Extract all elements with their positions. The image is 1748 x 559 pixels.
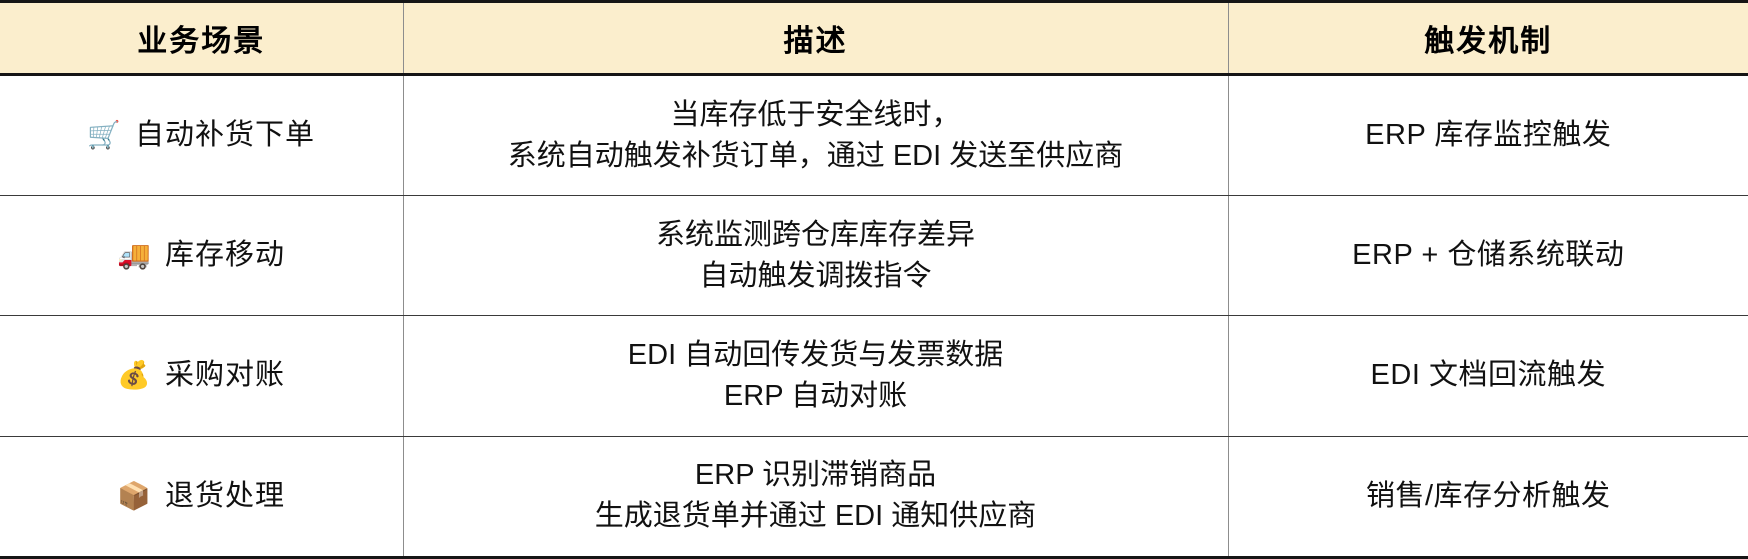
scenario-label: 退货处理	[165, 476, 285, 517]
description-cell: 当库存低于安全线时， 系统自动触发补货订单，通过 EDI 发送至供应商	[403, 75, 1228, 196]
shopping-cart-icon: 🛒	[87, 122, 121, 149]
trigger-text: EDI 文档回流触发	[1371, 359, 1606, 391]
trigger-text: ERP + 仓储系统联动	[1352, 239, 1624, 271]
scenario-label: 自动补货下单	[135, 115, 315, 156]
table-header: 业务场景 描述 触发机制	[0, 2, 1748, 75]
scenario-cell: 💰 采购对账	[0, 316, 403, 436]
trigger-text: ERP 库存监控触发	[1365, 119, 1611, 151]
header-row: 业务场景 描述 触发机制	[0, 2, 1748, 75]
delivery-truck-icon: 🚚	[117, 242, 151, 269]
business-scenario-table-container: 业务场景 描述 触发机制 🛒 自动补货下单 当库存低于安全线时， 系统自动触发补…	[0, 0, 1748, 559]
trigger-cell: 销售/库存分析触发	[1228, 436, 1748, 558]
scenario-cell: 📦 退货处理	[0, 436, 403, 558]
description-line: 系统自动触发补货订单，通过 EDI 发送至供应商	[418, 136, 1214, 177]
column-header-trigger: 触发机制	[1228, 2, 1748, 75]
table-body: 🛒 自动补货下单 当库存低于安全线时， 系统自动触发补货订单，通过 EDI 发送…	[0, 75, 1748, 558]
trigger-text: 销售/库存分析触发	[1366, 480, 1611, 512]
description-cell: ERP 识别滞销商品 生成退货单并通过 EDI 通知供应商	[403, 436, 1228, 558]
description-line: 系统监测跨仓库库存差异	[418, 215, 1214, 256]
package-box-icon: 📦	[117, 483, 151, 510]
scenario-label: 采购对账	[165, 355, 285, 396]
description-line: 当库存低于安全线时，	[418, 95, 1214, 136]
table-row: 💰 采购对账 EDI 自动回传发货与发票数据 ERP 自动对账 EDI 文档回流…	[0, 316, 1748, 436]
description-line: 生成退货单并通过 EDI 通知供应商	[418, 496, 1214, 537]
description-line: EDI 自动回传发货与发票数据	[418, 335, 1214, 376]
business-scenario-table: 业务场景 描述 触发机制 🛒 自动补货下单 当库存低于安全线时， 系统自动触发补…	[0, 0, 1748, 559]
trigger-cell: ERP + 仓储系统联动	[1228, 196, 1748, 316]
trigger-cell: ERP 库存监控触发	[1228, 75, 1748, 196]
scenario-cell: 🛒 自动补货下单	[0, 75, 403, 196]
money-bag-icon: 💰	[117, 362, 151, 389]
column-header-description: 描述	[403, 2, 1228, 75]
table-row: 🛒 自动补货下单 当库存低于安全线时， 系统自动触发补货订单，通过 EDI 发送…	[0, 75, 1748, 196]
description-line: 自动触发调拨指令	[418, 256, 1214, 297]
table-row: 📦 退货处理 ERP 识别滞销商品 生成退货单并通过 EDI 通知供应商 销售/…	[0, 436, 1748, 558]
description-cell: 系统监测跨仓库库存差异 自动触发调拨指令	[403, 196, 1228, 316]
table-row: 🚚 库存移动 系统监测跨仓库库存差异 自动触发调拨指令 ERP + 仓储系统联动	[0, 196, 1748, 316]
description-cell: EDI 自动回传发货与发票数据 ERP 自动对账	[403, 316, 1228, 436]
description-line: ERP 识别滞销商品	[418, 455, 1214, 496]
scenario-cell: 🚚 库存移动	[0, 196, 403, 316]
column-header-scenario: 业务场景	[0, 2, 403, 75]
description-line: ERP 自动对账	[418, 376, 1214, 417]
trigger-cell: EDI 文档回流触发	[1228, 316, 1748, 436]
scenario-label: 库存移动	[165, 235, 285, 276]
